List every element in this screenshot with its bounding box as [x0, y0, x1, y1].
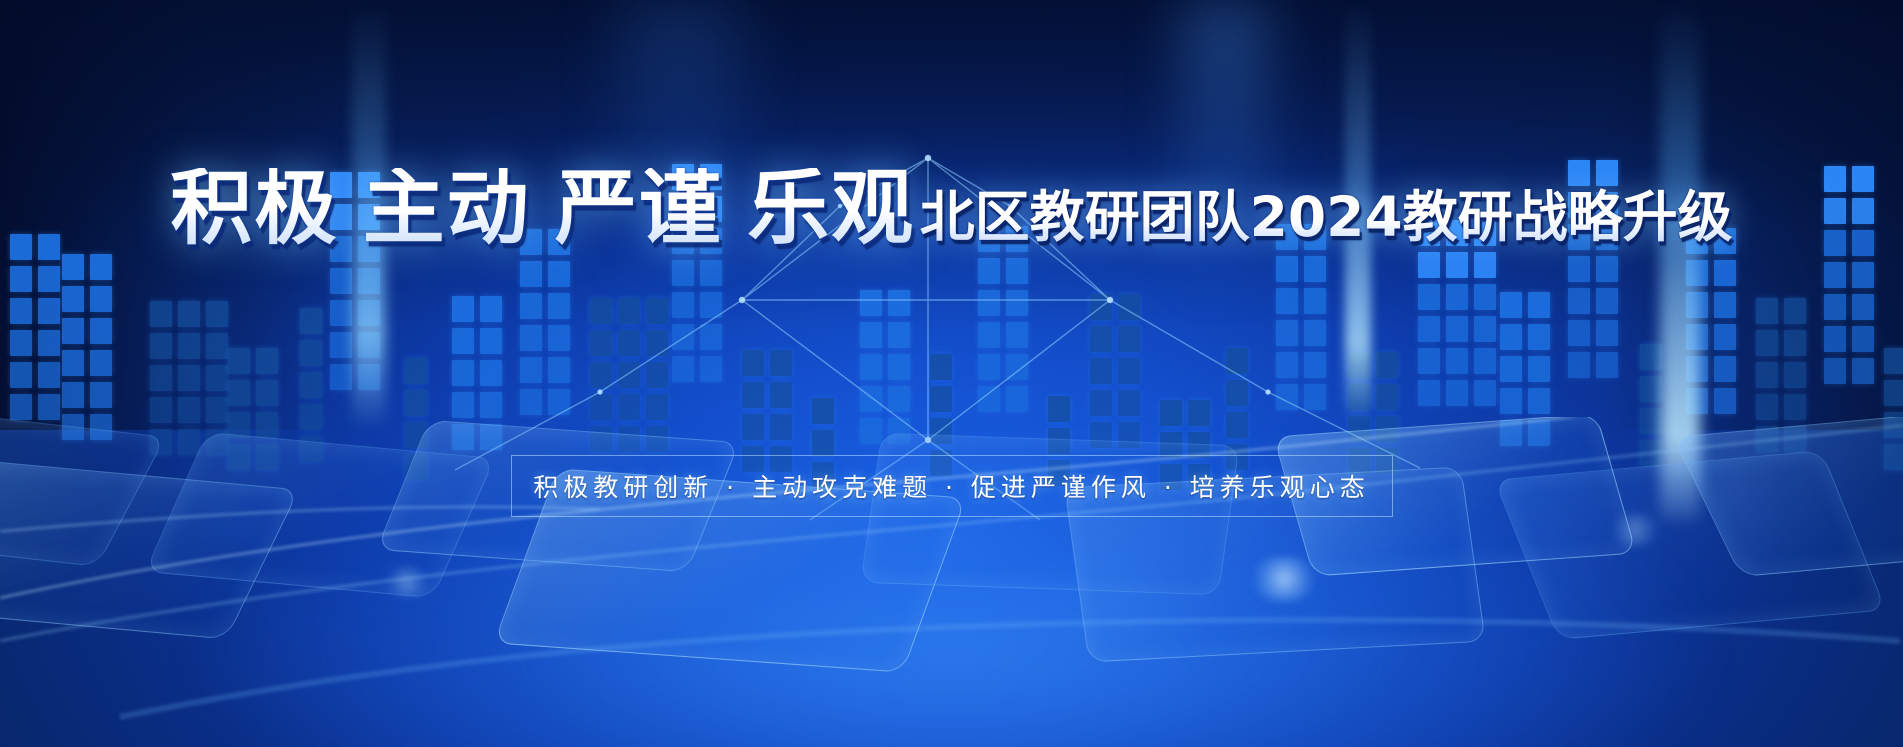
title-separator-icon: ·: [723, 186, 747, 242]
title-segment-1: 积极: [170, 161, 338, 256]
title-segment-4: 乐观: [747, 161, 915, 256]
title-segment-2: 主动: [363, 161, 531, 256]
title-block: 积极·主动·严谨·乐观 北区教研团队2024教研战略升级: [0, 168, 1903, 250]
page-title: 积极·主动·严谨·乐观: [170, 168, 915, 250]
tagline-box: 积极教研创新 · 主动攻克难题 · 促进严谨作风 · 培养乐观心态: [511, 455, 1393, 517]
title-separator-icon: ·: [338, 186, 362, 242]
tagline-text: 积极教研创新 · 主动攻克难题 · 促进严谨作风 · 培养乐观心态: [533, 468, 1370, 504]
banner-content: 积极·主动·严谨·乐观 北区教研团队2024教研战略升级 积极教研创新 · 主动…: [0, 0, 1903, 747]
title-separator-icon: ·: [531, 186, 555, 242]
banner-stage: 积极·主动·严谨·乐观 北区教研团队2024教研战略升级 积极教研创新 · 主动…: [0, 0, 1903, 747]
page-subtitle: 北区教研团队2024教研战略升级: [920, 186, 1733, 249]
title-segment-3: 严谨: [555, 161, 723, 256]
